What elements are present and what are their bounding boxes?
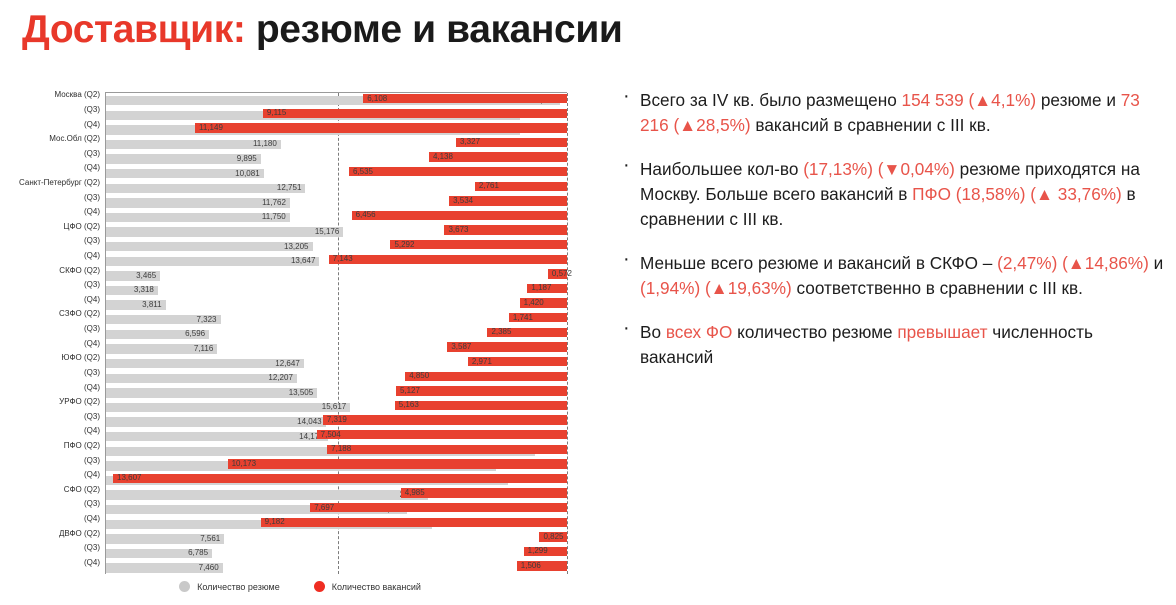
insight-text: соответственно в сравнении с III кв. (792, 278, 1083, 298)
chart-row: 12,7512,761 (106, 181, 567, 197)
chart-bar-vacancy-value: 1,299 (524, 546, 548, 556)
chart-category-label: (Q3) (84, 105, 100, 115)
page-title: Доставщик: резюме и вакансии (22, 8, 623, 52)
chart-bar-resume-value: 13,205 (284, 242, 312, 252)
chart-bar-vacancy-value: 5,127 (396, 386, 420, 396)
chart-row: 29,0316,108 (106, 93, 567, 109)
chart-bar-resume-value: 15,617 (322, 402, 350, 412)
chart-row: 3,8111,420 (106, 297, 567, 313)
chart-bar-vacancy (405, 372, 567, 381)
insight-highlight: 154 539 (▲4,1%) (902, 90, 1037, 110)
chart-bar-vacancy-value: 13,607 (113, 473, 141, 483)
chart-bar-vacancy (228, 459, 567, 468)
chart-reference-line-right (567, 93, 568, 574)
chart-row: 20,8479,182 (106, 517, 567, 533)
chart-bar-resume-value: 9,895 (237, 154, 261, 164)
chart-category-label: (Q4) (84, 558, 100, 568)
legend-item-label: Количество резюме (197, 582, 280, 592)
chart-bar-vacancy-value: 3,673 (444, 225, 468, 235)
chart-row: 15,1763,673 (106, 224, 567, 240)
chart-bar-resume-value: 7,323 (196, 315, 220, 325)
chart-bar-vacancy-value: 5,292 (390, 240, 414, 250)
chart-row: 9,8954,138 (106, 151, 567, 167)
chart-bar-vacancy (363, 94, 567, 103)
chart-bar-vacancy-value: 1,741 (509, 313, 533, 323)
insight-text: вакансий в сравнении с III кв. (751, 115, 991, 135)
insight-highlight: превышает (897, 322, 987, 342)
chart-row: 11,7623,534 (106, 195, 567, 211)
chart-bar-resume-value: 7,460 (199, 563, 223, 573)
chart-category-label: (Q4) (84, 514, 100, 524)
chart-bar-vacancy-value: 3,534 (449, 196, 473, 206)
chart-bar-resume-value: 6,785 (188, 548, 212, 558)
insight-highlight: (2,47%) (▲14,86%) (997, 253, 1149, 273)
chart-bar-vacancy-value: 10,173 (228, 459, 256, 469)
chart-category-label: ПФО (Q2) (64, 441, 100, 451)
chart-bar-vacancy-value: 6,108 (363, 94, 387, 104)
bullet-total: Всего за IV кв. было размещено 154 539 (… (618, 88, 1168, 138)
chart-row: 13,2055,292 (106, 239, 567, 255)
chart-bar-resume-value: 3,465 (136, 271, 160, 281)
page-title-accent: Доставщик: (22, 8, 245, 51)
chart-row: 7,1163,587 (106, 341, 567, 357)
chart-category-label: (Q4) (84, 470, 100, 480)
chart-bar-vacancy (261, 518, 567, 527)
chart-bar-resume-value: 11,180 (253, 139, 281, 149)
chart-bar-resume-value: 3,318 (134, 285, 158, 295)
red-circle-icon (314, 581, 325, 592)
chart-bar-resume (106, 242, 313, 251)
insight-text: Всего за IV кв. было размещено (640, 90, 902, 110)
chart-bar-vacancy (263, 109, 567, 118)
insight-highlight: всех ФО (666, 322, 733, 342)
chart-bar-vacancy (327, 445, 567, 454)
chart-row: 3,4650,572 (106, 268, 567, 284)
chart-row: 6,5962,385 (106, 327, 567, 343)
chart-bar-vacancy (401, 488, 567, 497)
chart-category-label: СЗФО (Q2) (59, 309, 100, 319)
chart-category-label: (Q3) (84, 412, 100, 422)
chart-bar-resume (106, 257, 319, 266)
chart-bar-resume (106, 432, 328, 441)
chart-category-label: Москва (Q2) (54, 90, 100, 100)
chart-bar-resume-value: 10,081 (235, 169, 263, 179)
chart-bar-vacancy-value: 1,506 (517, 561, 541, 571)
chart-bar-vacancy-value: 5,163 (395, 400, 419, 410)
chart-bar-vacancy-value: 1,420 (520, 298, 544, 308)
chart-category-label: ЦФО (Q2) (64, 222, 100, 232)
insight-text: Меньше всего резюме и вакансий в СКФО – (640, 253, 997, 273)
chart-category-label: (Q3) (84, 193, 100, 203)
chart-category-label: (Q3) (84, 149, 100, 159)
chart-row: 25,67913,607 (106, 473, 567, 489)
chart-bar-vacancy-value: 2,761 (475, 181, 499, 191)
chart-legend: Количество резюмеКоличество вакансий (0, 581, 600, 592)
chart-bar-resume-value: 11,750 (262, 212, 290, 222)
chart-container: Москва (Q2)(Q3)(Q4)Мос.Обл (Q2)(Q3)(Q4)С… (0, 88, 600, 588)
chart-bar-resume-value: 6,596 (185, 329, 209, 339)
chart-row: 6,7851,299 (106, 546, 567, 562)
chart-bar-vacancy-value: 3,327 (456, 137, 480, 147)
chart-bar-vacancy-value: 7,319 (323, 415, 347, 425)
chart-category-label: (Q4) (84, 120, 100, 130)
chart-bar-resume (106, 417, 326, 426)
chart-bar-vacancy (396, 386, 567, 395)
chart-category-label: (Q3) (84, 236, 100, 246)
chart-bar-resume-value: 14,043 (297, 417, 325, 427)
chart-bar-vacancy-value: 6,535 (349, 167, 373, 177)
chart-row: 11,1803,327 (106, 137, 567, 153)
chart-bar-vacancy-value: 0,572 (548, 269, 572, 279)
chart-bar-resume (106, 359, 304, 368)
chart-bar-resume-value: 3,811 (142, 300, 165, 310)
chart-bar-vacancy-value: 7,697 (310, 503, 334, 513)
chart-row: 10,0816,535 (106, 166, 567, 182)
chart-row: 26,4829,115 (106, 108, 567, 124)
insight-text: Во (640, 322, 666, 342)
bullet-allfo: Во всех ФО количество резюме превышает ч… (618, 320, 1168, 370)
chart-bar-vacancy-value: 4,138 (429, 152, 453, 162)
chart-bar-vacancy-value: 0,825 (539, 532, 563, 542)
chart-row: 7,3231,741 (106, 312, 567, 328)
chart-row: 19,2507,697 (106, 502, 567, 518)
chart-bar-vacancy-value: 1,187 (527, 283, 551, 293)
bullet-moscow: Наибольшее кол-во (17,13%) (▼0,04%) резю… (618, 157, 1168, 232)
chart-bar-vacancy-value: 9,115 (263, 108, 286, 118)
chart-bar-resume-value: 7,561 (200, 534, 224, 544)
chart-category-label: (Q3) (84, 499, 100, 509)
chart-category-label: (Q4) (84, 383, 100, 393)
chart-category-label: (Q3) (84, 280, 100, 290)
chart-category-label: (Q4) (84, 163, 100, 173)
legend-item[interactable]: Количество резюме (179, 581, 280, 592)
bullet-skfo: Меньше всего резюме и вакансий в СКФО – … (618, 251, 1168, 301)
chart-bar-resume (106, 490, 428, 499)
chart-row: 15,6175,163 (106, 400, 567, 416)
chart-row: 12,6472,971 (106, 356, 567, 372)
chart-row: 14,0437,319 (106, 414, 567, 430)
chart-category-label: (Q4) (84, 339, 100, 349)
insight-highlight: ПФО (18,58%) (▲ 33,76%) (912, 184, 1122, 204)
chart-category-label: СФО (Q2) (64, 485, 100, 495)
chart-bar-vacancy-value: 4,850 (405, 371, 429, 381)
chart-bar-vacancy-value: 9,182 (261, 517, 285, 527)
insights-list: Всего за IV кв. было размещено 154 539 (… (618, 88, 1168, 389)
chart-row: 7,4601,506 (106, 560, 567, 576)
chart-bar-resume-value: 12,751 (277, 183, 305, 193)
chart-category-label: ЮФО (Q2) (61, 353, 100, 363)
chart-category-label: ДВФО (Q2) (59, 529, 100, 539)
chart-category-label: СКФО (Q2) (59, 266, 100, 276)
chart-category-label: Санкт-Петербург (Q2) (19, 178, 100, 188)
legend-item-label: Количество вакансий (332, 582, 421, 592)
chart-bar-resume-value: 13,505 (289, 388, 317, 398)
grey-circle-icon (179, 581, 190, 592)
chart-plot-area: 29,0316,10826,4829,11526,47211,14911,180… (105, 92, 567, 574)
chart-row: 3,3181,187 (106, 283, 567, 299)
chart-bar-resume-value: 13,647 (291, 256, 319, 266)
insight-highlight: (1,94%) (▲19,63%) (640, 278, 792, 298)
chart-bar-vacancy-value: 7,504 (317, 430, 341, 440)
insight-text: резюме и (1036, 90, 1121, 110)
chart-bar-resume-value: 15,176 (315, 227, 343, 237)
chart-bar-vacancy-value: 7,143 (329, 254, 353, 264)
chart-bar-resume-value: 11,762 (262, 198, 290, 208)
chart-bar-vacancy (349, 167, 567, 176)
chart-bar-vacancy-value: 4,985 (401, 488, 425, 498)
chart-row: 26,47211,149 (106, 122, 567, 138)
chart-category-label: УРФО (Q2) (59, 397, 100, 407)
chart-row: 20,5994,985 (106, 487, 567, 503)
chart-category-label: (Q4) (84, 426, 100, 436)
chart-row: 27,4067,188 (106, 444, 567, 460)
chart-bar-vacancy-value: 7,188 (327, 444, 351, 454)
chart-row: 7,5610,825 (106, 531, 567, 547)
chart-bar-vacancy-value: 11,149 (195, 123, 223, 133)
page-title-rest: резюме и вакансии (245, 8, 622, 51)
chart-bar-vacancy (329, 255, 567, 264)
insight-highlight: (17,13%) (▼0,04%) (803, 159, 955, 179)
insight-text: Наибольшее кол-во (640, 159, 803, 179)
chart-bar-vacancy-value: 6,456 (352, 210, 376, 220)
chart-bar-vacancy (395, 401, 567, 410)
chart-bar-resume (106, 227, 343, 236)
chart-row: 13,6477,143 (106, 254, 567, 270)
chart-category-label: (Q4) (84, 207, 100, 217)
chart-bar-resume-value: 7,116 (194, 344, 217, 354)
chart-bar-vacancy-value: 2,385 (487, 327, 511, 337)
chart-row: 12,2074,850 (106, 371, 567, 387)
chart-category-label: (Q4) (84, 295, 100, 305)
chart-bar-resume-value: 12,647 (275, 359, 303, 369)
chart-bar-resume-value: 12,207 (268, 373, 296, 383)
chart-row: 11,7506,456 (106, 210, 567, 226)
chart-bar-resume (106, 184, 305, 193)
insight-text: количество резюме (732, 322, 897, 342)
chart-bar-vacancy (390, 240, 567, 249)
chart-row: 14,1717,504 (106, 429, 567, 445)
chart-category-label: (Q3) (84, 324, 100, 334)
chart-bar-vacancy-value: 3,587 (447, 342, 471, 352)
chart-bar-vacancy (310, 503, 567, 512)
chart-category-label: (Q3) (84, 368, 100, 378)
chart-category-label: (Q4) (84, 251, 100, 261)
chart-category-label: (Q3) (84, 543, 100, 553)
chart-bar-vacancy (113, 474, 567, 483)
legend-item[interactable]: Количество вакансий (314, 581, 421, 592)
chart-category-axis: Москва (Q2)(Q3)(Q4)Мос.Обл (Q2)(Q3)(Q4)С… (0, 88, 103, 588)
chart-bar-vacancy (317, 430, 567, 439)
chart-bar-resume (106, 388, 317, 397)
chart-row: 13,5055,127 (106, 385, 567, 401)
chart-bar-vacancy-value: 2,971 (468, 357, 492, 367)
chart-category-label: (Q3) (84, 456, 100, 466)
chart-row: 24,93010,173 (106, 458, 567, 474)
chart-bar-vacancy (195, 123, 567, 132)
chart-bar-vacancy (323, 415, 567, 424)
chart-bar-vacancy (352, 211, 567, 220)
chart-category-label: Мос.Обл (Q2) (49, 134, 100, 144)
insight-text: и (1149, 253, 1163, 273)
chart-bar-resume (106, 403, 350, 412)
